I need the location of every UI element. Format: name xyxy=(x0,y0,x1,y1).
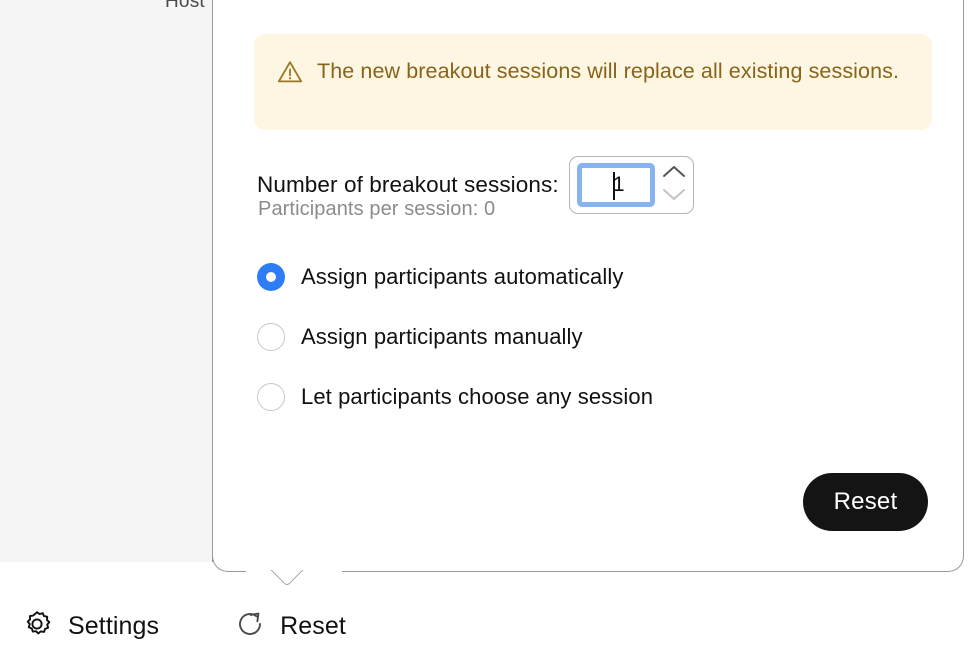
radio-button-automatic[interactable] xyxy=(257,263,285,291)
session-count-input[interactable]: 1 xyxy=(577,163,655,207)
chevron-down-icon[interactable] xyxy=(661,187,687,207)
warning-banner-text: The new breakout sessions will replace a… xyxy=(317,56,899,88)
toolbar-settings-button[interactable]: Settings xyxy=(20,607,159,646)
session-count-stepper[interactable]: 1 xyxy=(569,156,694,214)
background-left-panel: Host xyxy=(0,0,213,562)
session-count-label: Number of breakout sessions: xyxy=(257,172,559,198)
assignment-options-group: Assign participants automatically Assign… xyxy=(257,247,653,427)
session-count-value: 1 xyxy=(613,173,625,197)
breakout-sessions-popover: The new breakout sessions will replace a… xyxy=(212,0,964,572)
assignment-option-label: Assign participants manually xyxy=(301,324,583,350)
assignment-option-label: Let participants choose any session xyxy=(301,384,653,410)
assignment-option-automatic[interactable]: Assign participants automatically xyxy=(257,247,653,307)
toolbar-reset-label: Reset xyxy=(280,612,346,641)
popover-tail-mask xyxy=(246,568,342,572)
background-panel-label: Host xyxy=(165,0,205,13)
warning-triangle-icon xyxy=(277,60,303,89)
assignment-option-manual[interactable]: Assign participants manually xyxy=(257,307,653,367)
radio-button-manual[interactable] xyxy=(257,323,285,351)
assignment-option-choose[interactable]: Let participants choose any session xyxy=(257,367,653,427)
gear-icon xyxy=(20,607,54,646)
assignment-option-label: Assign participants automatically xyxy=(301,264,623,290)
chevron-up-icon[interactable] xyxy=(661,164,687,184)
toolbar-settings-label: Settings xyxy=(68,612,159,641)
warning-banner: The new breakout sessions will replace a… xyxy=(254,34,932,130)
bottom-toolbar: Settings Reset xyxy=(0,592,974,660)
participants-per-session-text: Participants per session: 0 xyxy=(258,198,495,221)
radio-button-choose[interactable] xyxy=(257,383,285,411)
screen-root: Host The new breakout sessions will repl… xyxy=(0,0,974,660)
stepper-arrows xyxy=(661,164,687,207)
refresh-icon xyxy=(234,608,266,645)
popover-reset-button[interactable]: Reset xyxy=(803,473,928,531)
toolbar-reset-button[interactable]: Reset xyxy=(234,608,346,645)
